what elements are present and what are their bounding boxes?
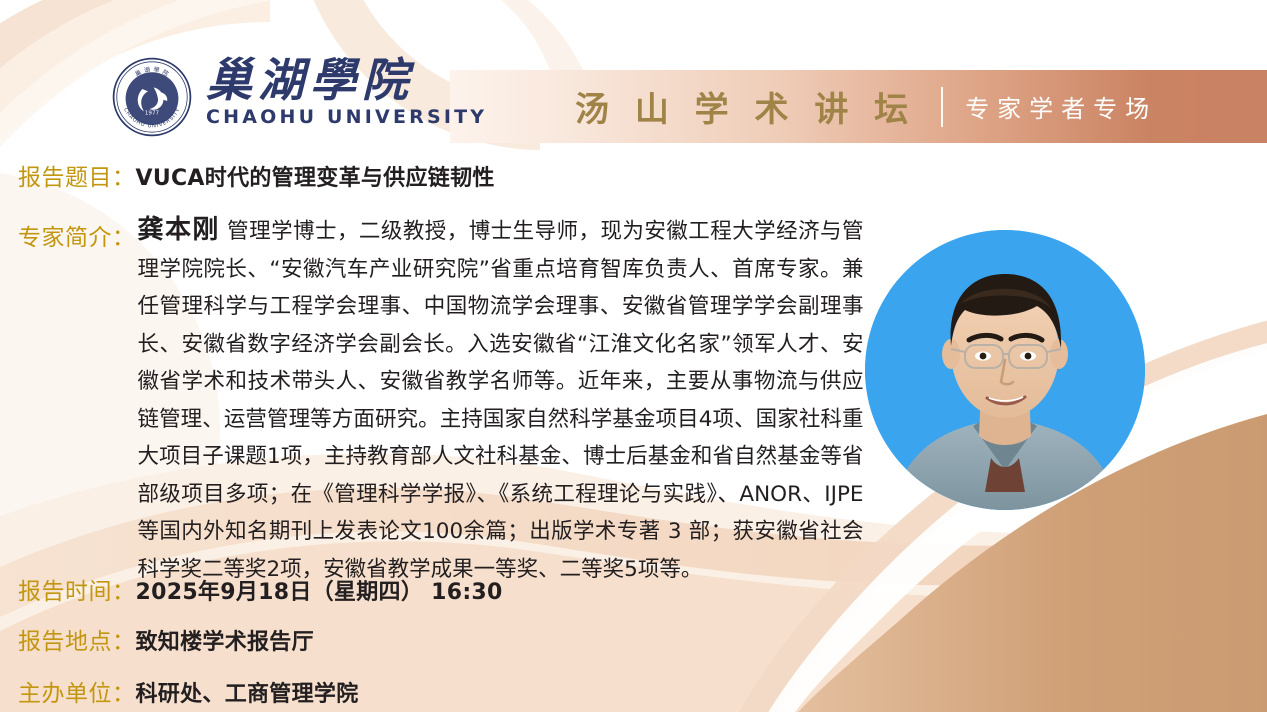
- speaker-bio-row: 专家简介： 龚本刚 管理学博士，二级教授，博士生导师，现为安徽工程大学经济与管理…: [18, 212, 888, 588]
- poster-canvas: 汤 山 学 术 讲 坛 专家学者专场 1977 巢 湖 學 院 C: [0, 0, 1267, 712]
- forum-banner: 汤 山 学 术 讲 坛 专家学者专场: [450, 70, 1267, 143]
- report-title-label: 报告题目：: [18, 158, 136, 192]
- university-name-block: 巢湖學院 CHAOHU UNIVERSITY: [206, 56, 487, 128]
- banner-title: 汤 山 学 术 讲 坛: [575, 82, 915, 131]
- report-place-label: 报告地点：: [18, 622, 136, 656]
- university-name-en: CHAOHU UNIVERSITY: [206, 106, 487, 128]
- speaker-bio-body: 龚本刚 管理学博士，二级教授，博士生导师，现为安徽工程大学经济与管理学院院长、“…: [138, 212, 864, 588]
- report-time-label: 报告时间：: [18, 572, 136, 606]
- report-time-value: 2025年9月18日（星期四） 16:30: [136, 574, 503, 606]
- speaker-bio-text: 管理学博士，二级教授，博士生导师，现为安徽工程大学经济与管理学院院长、“安徽汽车…: [138, 219, 864, 582]
- speaker-name: 龚本刚: [138, 215, 220, 245]
- chaohu-university-seal-icon: 1977 巢 湖 學 院 CHAOHU UNIVERSITY: [112, 57, 192, 137]
- report-place-value: 致知楼学术报告厅: [136, 624, 314, 656]
- svg-text:1977: 1977: [145, 111, 160, 117]
- university-name-cn: 巢湖學院: [206, 56, 487, 104]
- speaker-portrait: [865, 230, 1145, 510]
- university-logo: 1977 巢 湖 學 院 CHAOHU UNIVERSITY 巢湖學院 CHAO…: [112, 54, 487, 137]
- report-host-row: 主办单位： 科研处、工商管理学院: [18, 674, 359, 708]
- banner-divider: [941, 87, 943, 127]
- speaker-bio-label: 专家简介：: [18, 212, 136, 252]
- report-time-row: 报告时间： 2025年9月18日（星期四） 16:30: [18, 572, 503, 606]
- report-host-value: 科研处、工商管理学院: [136, 676, 359, 708]
- report-place-row: 报告地点： 致知楼学术报告厅: [18, 622, 314, 656]
- report-title-value: VUCA时代的管理变革与供应链韧性: [136, 160, 495, 192]
- report-host-label: 主办单位：: [18, 674, 136, 708]
- banner-subtitle: 专家学者专场: [965, 89, 1157, 124]
- report-title-row: 报告题目： VUCA时代的管理变革与供应链韧性: [18, 158, 495, 192]
